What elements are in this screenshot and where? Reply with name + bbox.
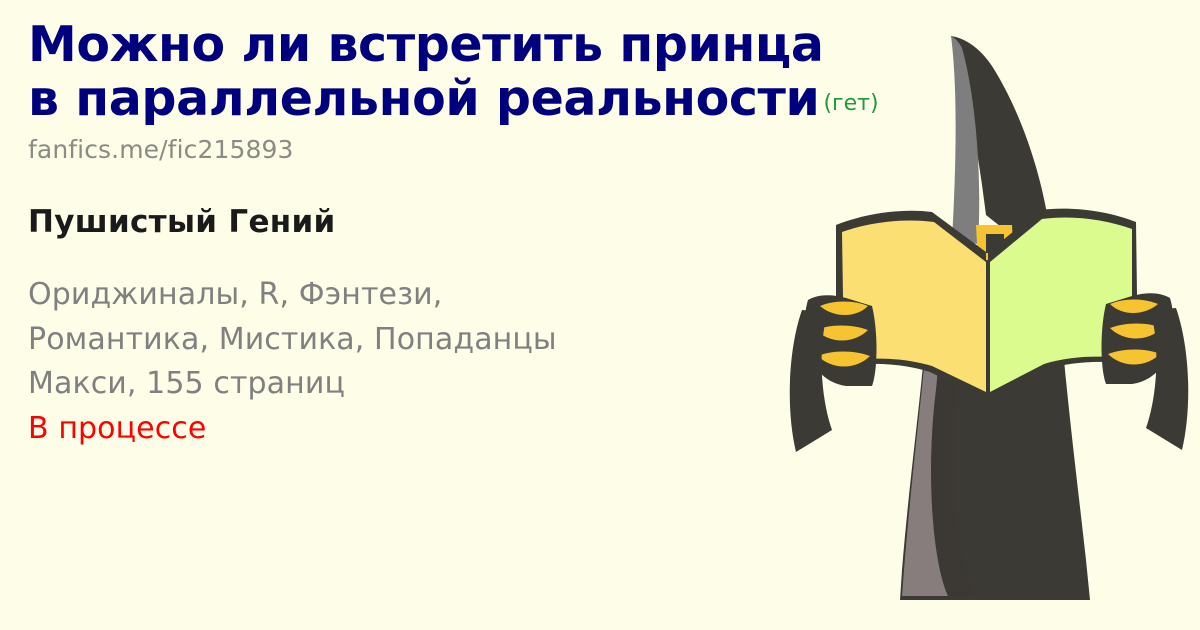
fanfic-metadata: Ориджиналы, R, Фэнтези, Романтика, Мисти… [28,273,978,451]
fanfic-share-card: Можно ли встретить принца в параллельной… [0,0,1200,630]
title-line-1: Можно ли встретить принца [28,18,968,72]
title-line-2-wrapper: в параллельной реальности(гет) [28,72,968,126]
source-url[interactable]: fanfics.me/fic215893 [28,136,978,164]
title-line-2: в параллельной реальности [28,70,819,127]
page-title: Можно ли встретить принца в параллельной… [28,18,968,127]
title-genre-tag: (гет) [823,91,878,116]
status-badge: В процессе [28,407,978,451]
right-hand [1102,293,1189,450]
metadata-line-genres-cont: Романтика, Мистика, Попаданцы [28,318,978,362]
book-spine [986,260,990,398]
metadata-line-fandom-rating-genres: Ориджиналы, R, Фэнтези, [28,273,978,317]
metadata-line-size-pages: Макси, 155 страниц [28,362,978,406]
author-name[interactable]: Пушистый Гений [28,205,978,239]
text-column: Можно ли встретить принца в параллельной… [28,18,978,451]
